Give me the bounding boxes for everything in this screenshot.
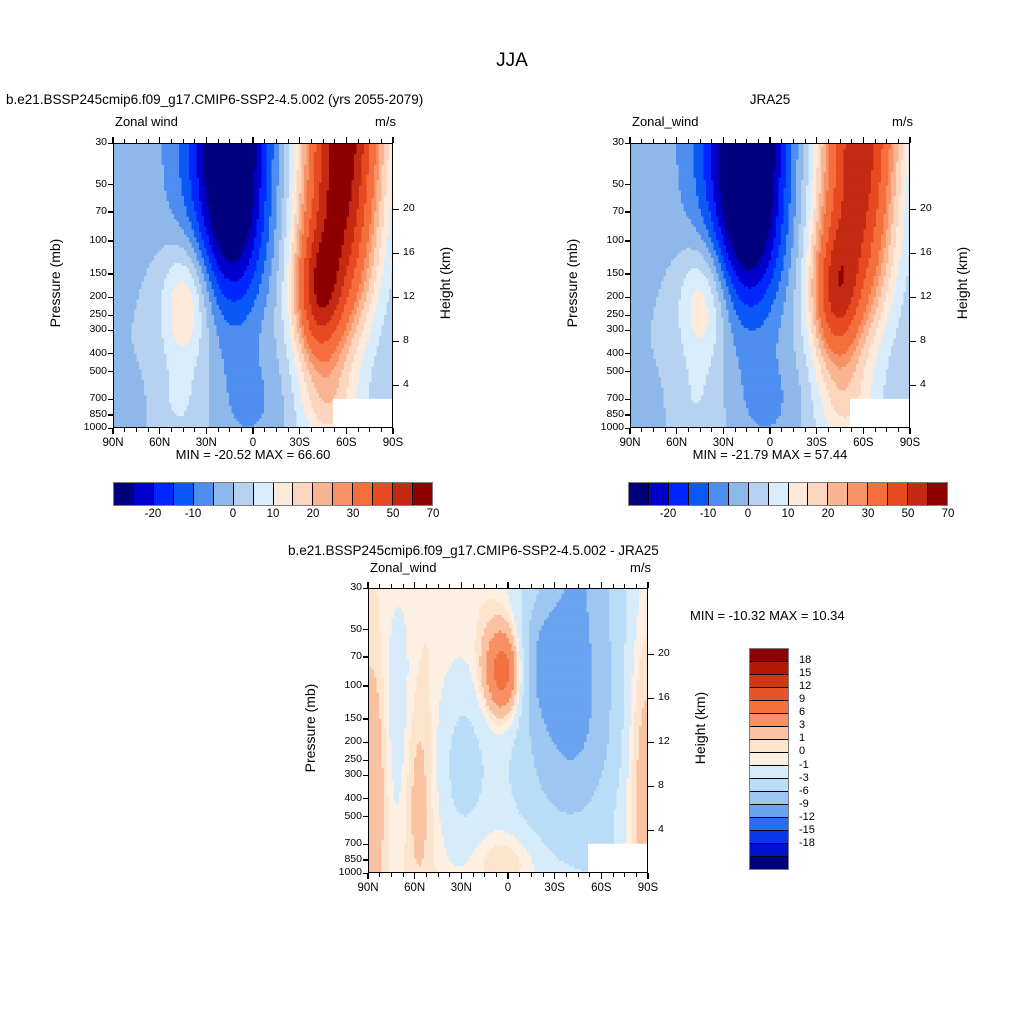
diff-colorbar-cell-3 [750, 688, 788, 701]
y2-tick-label: 12 [658, 735, 670, 747]
x-minor-tick [886, 428, 887, 432]
y-tick-label: 70 [586, 205, 624, 217]
y2-tick-mark [648, 830, 654, 831]
right-units-label: m/s [892, 114, 913, 129]
diff-colorbar-cell-13 [750, 818, 788, 831]
x-minor-tick [369, 428, 370, 432]
diff-colorbar-cell-12 [750, 805, 788, 818]
colorbar-cell-7 [769, 483, 789, 505]
y2-tick-mark [910, 209, 916, 210]
diff-colorbar-tick-label: 3 [799, 719, 805, 731]
y-tick-label: 400 [69, 347, 107, 359]
y2-tick-label: 16 [920, 246, 932, 258]
x-tick-mark [863, 428, 864, 434]
diff-colorbar-cell-5 [750, 714, 788, 727]
y-tick-label: 250 [324, 753, 362, 765]
diff-colorbar-cell-0 [750, 649, 788, 662]
y2-tick-mark [393, 297, 399, 298]
left-units-label: m/s [375, 114, 396, 129]
y-tick-label: 100 [69, 234, 107, 246]
y-tick-label: 1000 [69, 421, 107, 433]
colorbar-cell-14 [908, 483, 928, 505]
y-tick-label: 30 [586, 136, 624, 148]
diff-panel-title: b.e21.BSSP245cmip6.f09_g17.CMIP6-SSP2-4.… [288, 543, 659, 558]
colorbar-cell-5 [214, 483, 234, 505]
colorbar-tick-label: 70 [427, 508, 440, 520]
x-minor-tick [851, 428, 852, 432]
x-tick-mark [647, 873, 648, 879]
diff-colorbar-cell-15 [750, 844, 788, 857]
colorbar-tick-label: 20 [822, 508, 835, 520]
diff-colorbar-tick-label: -18 [799, 837, 815, 849]
y-tick-label: 200 [69, 290, 107, 302]
diff-colorbar [749, 648, 789, 870]
figure-canvas: JJA b.e21.BSSP245cmip6.f09_g17.CMIP6-SSP… [0, 0, 1024, 1024]
x-minor-tick [665, 428, 666, 432]
diff-contour-plot [368, 588, 648, 873]
y-tick-label: 30 [69, 136, 107, 148]
y-tick-label: 300 [324, 768, 362, 780]
contour-field [114, 144, 393, 428]
left-colorbar-labels: -20-1001020305070 [113, 508, 433, 526]
surface-mask [333, 399, 393, 428]
colorbar-tick-label: 30 [862, 508, 875, 520]
x-minor-tick [391, 873, 392, 877]
y-tick-label: 1000 [586, 421, 624, 433]
colorbar-cell-12 [868, 483, 888, 505]
right-y2-axis-label: Height (km) [954, 223, 970, 343]
x-minor-tick [288, 428, 289, 432]
x-minor-tick [624, 873, 625, 877]
x-tick-mark [629, 428, 630, 434]
colorbar-cell-7 [254, 483, 274, 505]
colorbar-tick-label: -10 [700, 508, 717, 520]
colorbar-cell-11 [333, 483, 353, 505]
colorbar-cell-8 [789, 483, 809, 505]
diff-y-axis-label: Pressure (mb) [302, 668, 318, 788]
colorbar-cell-2 [154, 483, 174, 505]
y2-tick-label: 4 [658, 823, 664, 835]
right-contour-plot [630, 143, 910, 428]
colorbar-cell-13 [373, 483, 393, 505]
diff-colorbar-tick-label: -15 [799, 824, 815, 836]
y2-tick-label: 12 [920, 290, 932, 302]
colorbar-tick-label: 10 [267, 508, 280, 520]
x-minor-tick [641, 428, 642, 432]
y-tick-label: 100 [324, 679, 362, 691]
x-tick-mark [723, 428, 724, 434]
x-tick-mark [414, 873, 415, 879]
x-minor-tick [358, 428, 359, 432]
diff-colorbar-tick-label: -12 [799, 811, 815, 823]
y-tick-label: 250 [69, 308, 107, 320]
diff-colorbar-tick-label: 15 [799, 667, 811, 679]
y-tick-label: 850 [324, 853, 362, 865]
x-minor-tick [124, 428, 125, 432]
x-tick-mark [367, 873, 368, 879]
x-minor-tick [589, 873, 590, 877]
diff-colorbar-cell-10 [750, 779, 788, 792]
x-minor-tick [379, 873, 380, 877]
x-tick-label: 60N [393, 882, 437, 894]
y2-tick-label: 4 [403, 378, 409, 390]
y2-tick-label: 8 [920, 334, 926, 346]
main-title: JJA [0, 50, 1024, 72]
right-minmax: MIN = -21.79 MAX = 57.44 [630, 447, 910, 462]
y2-tick-mark [910, 297, 916, 298]
y2-tick-label: 20 [920, 202, 932, 214]
x-minor-tick [613, 873, 614, 877]
x-minor-tick [805, 428, 806, 432]
x-tick-label: 90N [346, 882, 390, 894]
colorbar-cell-9 [808, 483, 828, 505]
colorbar-cell-0 [629, 483, 649, 505]
colorbar-cell-15 [413, 483, 432, 505]
x-minor-tick [711, 428, 712, 432]
diff-colorbar-tick-label: 12 [799, 680, 811, 692]
y-tick-label: 500 [69, 365, 107, 377]
x-minor-tick [276, 428, 277, 432]
x-minor-tick [735, 428, 736, 432]
x-minor-tick [264, 428, 265, 432]
diff-colorbar-cell-14 [750, 831, 788, 844]
x-tick-mark [299, 428, 300, 434]
diff-colorbar-tick-label: -3 [799, 772, 809, 784]
x-tick-label: 30N [439, 882, 483, 894]
y-tick-label: 50 [69, 178, 107, 190]
x-minor-tick [875, 428, 876, 432]
x-minor-tick [323, 428, 324, 432]
diff-colorbar-cell-9 [750, 766, 788, 779]
y2-tick-mark [648, 654, 654, 655]
diff-colorbar-tick-label: -9 [799, 798, 809, 810]
x-minor-tick [194, 428, 195, 432]
x-minor-tick [218, 428, 219, 432]
colorbar-cell-6 [749, 483, 769, 505]
y2-tick-mark [393, 341, 399, 342]
x-tick-mark [392, 428, 393, 434]
x-minor-tick [688, 428, 689, 432]
colorbar-cell-9 [293, 483, 313, 505]
left-y2-axis-label: Height (km) [437, 223, 453, 343]
x-minor-tick [484, 873, 485, 877]
x-tick-mark [206, 428, 207, 434]
colorbar-tick-label: 50 [902, 508, 915, 520]
colorbar-tick-label: -20 [660, 508, 677, 520]
x-minor-tick [531, 873, 532, 877]
x-tick-label: 90S [626, 882, 670, 894]
colorbar-cell-4 [709, 483, 729, 505]
y2-tick-label: 16 [658, 691, 670, 703]
surface-mask [850, 399, 910, 428]
y2-tick-label: 12 [403, 290, 415, 302]
left-contour-plot [113, 143, 393, 428]
colorbar-cell-10 [828, 483, 848, 505]
right-colorbar-labels: -20-1001020305070 [628, 508, 948, 526]
y-tick-label: 700 [586, 392, 624, 404]
y2-tick-mark [910, 385, 916, 386]
y-tick-label: 850 [586, 408, 624, 420]
x-tick-label: 30S [533, 882, 577, 894]
y-tick-label: 70 [324, 650, 362, 662]
colorbar-cell-1 [649, 483, 669, 505]
colorbar-tick-label: 20 [307, 508, 320, 520]
x-minor-tick [519, 873, 520, 877]
x-tick-mark [252, 428, 253, 434]
colorbar-tick-label: 50 [387, 508, 400, 520]
diff-colorbar-tick-label: 0 [799, 745, 805, 757]
x-minor-tick [578, 873, 579, 877]
x-minor-tick [241, 428, 242, 432]
x-minor-tick [898, 428, 899, 432]
diff-colorbar-cell-8 [750, 753, 788, 766]
x-minor-tick [653, 428, 654, 432]
colorbar-cell-12 [353, 483, 373, 505]
y-tick-label: 400 [586, 347, 624, 359]
x-minor-tick [438, 873, 439, 877]
x-tick-mark [346, 428, 347, 434]
x-minor-tick [148, 428, 149, 432]
colorbar-cell-0 [114, 483, 134, 505]
colorbar-cell-3 [689, 483, 709, 505]
diff-colorbar-cell-1 [750, 662, 788, 675]
left-variable-label: Zonal wind [115, 114, 178, 129]
diff-variable-label: Zonal_wind [370, 560, 437, 575]
diff-colorbar-tick-label: -1 [799, 759, 809, 771]
right-y-axis-label: Pressure (mb) [564, 223, 580, 343]
left-minmax: MIN = -20.52 MAX = 66.60 [113, 447, 393, 462]
colorbar-cell-15 [928, 483, 947, 505]
x-minor-tick [311, 428, 312, 432]
colorbar-tick-label: 0 [745, 508, 751, 520]
diff-colorbar-cell-16 [750, 857, 788, 869]
colorbar-cell-2 [669, 483, 689, 505]
diff-colorbar-tick-label: -6 [799, 785, 809, 797]
x-minor-tick [840, 428, 841, 432]
colorbar-tick-label: -10 [185, 508, 202, 520]
x-tick-mark [676, 428, 677, 434]
y2-tick-label: 20 [658, 647, 670, 659]
x-minor-tick [229, 428, 230, 432]
y2-tick-label: 8 [403, 334, 409, 346]
y2-tick-mark [393, 253, 399, 254]
y2-tick-label: 8 [658, 779, 664, 791]
y-tick-label: 400 [324, 792, 362, 804]
x-minor-tick [426, 873, 427, 877]
colorbar-tick-label: -20 [145, 508, 162, 520]
x-minor-tick [566, 873, 567, 877]
surface-mask [588, 844, 648, 873]
y-tick-label: 200 [324, 735, 362, 747]
colorbar-tick-label: 10 [782, 508, 795, 520]
y-tick-label: 30 [324, 581, 362, 593]
colorbar-cell-3 [174, 483, 194, 505]
x-tick-mark [159, 428, 160, 434]
x-minor-tick [700, 428, 701, 432]
y-tick-label: 200 [586, 290, 624, 302]
y2-tick-mark [393, 209, 399, 210]
diff-colorbar-tick-label: 9 [799, 693, 805, 705]
x-tick-mark [461, 873, 462, 879]
colorbar-cell-11 [848, 483, 868, 505]
x-tick-mark [507, 873, 508, 879]
y-tick-label: 1000 [324, 866, 362, 878]
diff-colorbar-cell-11 [750, 792, 788, 805]
x-minor-tick [136, 428, 137, 432]
x-minor-tick [449, 873, 450, 877]
y-tick-label: 700 [69, 392, 107, 404]
x-tick-mark [601, 873, 602, 879]
x-tick-mark [816, 428, 817, 434]
y-tick-label: 150 [324, 712, 362, 724]
x-minor-tick [183, 428, 184, 432]
contour-field [631, 144, 910, 428]
colorbar-cell-1 [134, 483, 154, 505]
x-tick-mark [554, 873, 555, 879]
colorbar-cell-5 [729, 483, 749, 505]
diff-colorbar-tick-label: 1 [799, 732, 805, 744]
y-tick-label: 250 [586, 308, 624, 320]
x-minor-tick [781, 428, 782, 432]
y2-tick-label: 4 [920, 378, 926, 390]
y2-tick-label: 16 [403, 246, 415, 258]
x-minor-tick [334, 428, 335, 432]
x-minor-tick [793, 428, 794, 432]
y2-tick-mark [648, 698, 654, 699]
colorbar-cell-10 [313, 483, 333, 505]
y-tick-label: 50 [586, 178, 624, 190]
y-tick-label: 100 [586, 234, 624, 246]
colorbar-cell-4 [194, 483, 214, 505]
left-y-axis-label: Pressure (mb) [47, 223, 63, 343]
diff-colorbar-cell-4 [750, 701, 788, 714]
x-minor-tick [403, 873, 404, 877]
y-tick-label: 70 [69, 205, 107, 217]
y2-tick-mark [648, 786, 654, 787]
x-minor-tick [381, 428, 382, 432]
x-minor-tick [746, 428, 747, 432]
x-minor-tick [758, 428, 759, 432]
left-colorbar [113, 482, 433, 506]
y-tick-label: 50 [324, 623, 362, 635]
diff-units-label: m/s [630, 560, 651, 575]
y2-tick-mark [910, 341, 916, 342]
diff-colorbar-tick-label: 6 [799, 706, 805, 718]
diff-colorbar-cell-2 [750, 675, 788, 688]
x-minor-tick [473, 873, 474, 877]
y-tick-label: 500 [324, 810, 362, 822]
colorbar-cell-14 [393, 483, 413, 505]
y-tick-label: 300 [69, 323, 107, 335]
x-tick-mark [909, 428, 910, 434]
x-minor-tick [543, 873, 544, 877]
x-tick-label: 60S [579, 882, 623, 894]
right-panel-title: JRA25 [630, 92, 910, 107]
y-tick-label: 300 [586, 323, 624, 335]
diff-colorbar-cell-7 [750, 740, 788, 753]
colorbar-cell-8 [274, 483, 294, 505]
y-tick-label: 150 [586, 267, 624, 279]
diff-colorbar-cell-6 [750, 727, 788, 740]
y2-tick-label: 20 [403, 202, 415, 214]
x-tick-mark [112, 428, 113, 434]
diff-y2-axis-label: Height (km) [692, 668, 708, 788]
x-tick-label: 0 [486, 882, 530, 894]
colorbar-cell-6 [234, 483, 254, 505]
diff-minmax: MIN = -10.32 MAX = 10.34 [690, 608, 845, 623]
y-tick-label: 850 [69, 408, 107, 420]
right-colorbar [628, 482, 948, 506]
y-tick-label: 500 [586, 365, 624, 377]
diff-colorbar-labels: 18151296310-1-3-6-9-12-15-18 [793, 648, 853, 870]
colorbar-tick-label: 30 [347, 508, 360, 520]
x-minor-tick [496, 873, 497, 877]
y2-tick-mark [910, 253, 916, 254]
left-panel-title: b.e21.BSSP245cmip6.f09_g17.CMIP6-SSP2-4.… [6, 92, 423, 107]
y-tick-label: 700 [324, 837, 362, 849]
colorbar-tick-label: 0 [230, 508, 236, 520]
x-minor-tick [636, 873, 637, 877]
diff-colorbar-tick-label: 18 [799, 654, 811, 666]
right-variable-label: Zonal_wind [632, 114, 699, 129]
x-minor-tick [171, 428, 172, 432]
x-minor-tick [828, 428, 829, 432]
colorbar-tick-label: 70 [942, 508, 955, 520]
y2-tick-mark [393, 385, 399, 386]
contour-field [369, 589, 648, 873]
colorbar-cell-13 [888, 483, 908, 505]
y-tick-label: 150 [69, 267, 107, 279]
x-tick-mark [769, 428, 770, 434]
y2-tick-mark [648, 742, 654, 743]
